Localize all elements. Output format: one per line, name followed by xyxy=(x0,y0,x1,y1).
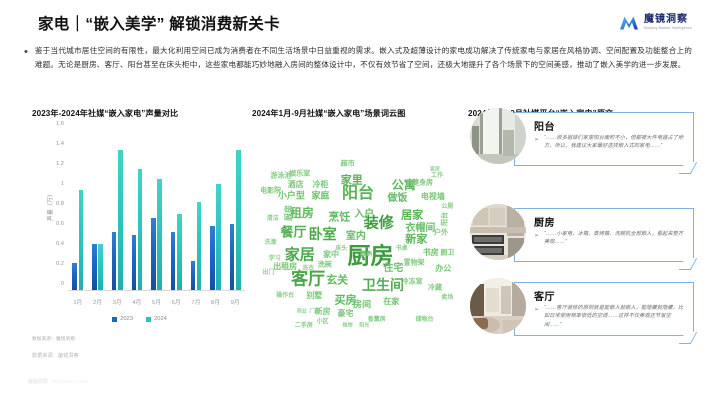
quote-card: 阳台 ➢ “……很多姐妹们家里阳台面积不小，但都被大件电器占了地方，所以，我建议… xyxy=(468,108,694,170)
wordcloud-word[interactable]: 玄关 xyxy=(326,275,348,286)
brand-text: 魔镜洞察 Moojing Market Intelligence xyxy=(644,15,692,30)
brand-name: 魔镜洞察 xyxy=(644,15,692,25)
chart-x-tick: 4月 xyxy=(127,293,147,311)
wordcloud-word[interactable]: 冷柜 xyxy=(313,181,329,189)
brand-logo: 魔镜洞察 Moojing Market Intelligence xyxy=(619,14,692,32)
wordcloud-word[interactable]: 别墅 xyxy=(306,292,322,300)
wordcloud-word[interactable]: 出租房 xyxy=(273,263,297,271)
chart-bar-group[interactable] xyxy=(166,130,186,290)
balcony-photo xyxy=(470,108,526,164)
wordcloud-word[interactable]: 二手房 xyxy=(295,323,313,328)
wordcloud-word[interactable]: 书桌 xyxy=(396,246,408,252)
wordcloud-word[interactable]: 收纳 xyxy=(360,252,372,258)
chart-bar-2024[interactable] xyxy=(216,184,221,290)
chart-bar-2024[interactable] xyxy=(79,190,84,290)
chart-x-tick: 9月 xyxy=(225,293,245,311)
wordcloud-canvas: 厨房客厅卫生间家居装修阳台餐厅卧室租房公寓家里烹饪居家新家衣帽间买房玄关入户做饭… xyxy=(254,130,462,328)
wordcloud-word[interactable]: 烹饪 xyxy=(328,212,350,223)
chart-bar-group[interactable] xyxy=(68,130,88,290)
chart-y-tick: 1.6 xyxy=(56,121,64,127)
chart-title: 2023年-2024年社媒“嵌入家电”声量对比 xyxy=(32,108,178,119)
page-title: 家电｜“嵌入美学” 解锁消费新关卡 xyxy=(38,12,280,34)
chart-x-tick: 1月 xyxy=(68,293,88,311)
intro-text: 鉴于当代城市居住空间的有限性，最大化利用空间已成为消费者在不同生活场景中日益重视… xyxy=(35,44,692,71)
wordcloud-word[interactable]: 户外 xyxy=(434,229,448,236)
wordcloud-word[interactable]: 做饭 xyxy=(388,194,408,204)
watermark-brand: 魔镜洞察 xyxy=(28,378,48,385)
quote-card: 厨房 ➢ “……小家电、冰箱、蒸烤箱、洗碗机全部嵌入，看起来整齐美观……” xyxy=(468,204,694,266)
chart-bar-2023[interactable] xyxy=(210,226,215,290)
wordcloud-word[interactable]: 植物 xyxy=(343,324,353,328)
wordcloud-title: 2024年1月-9月社媒“嵌入家电”场景词云图 xyxy=(252,108,405,119)
legend-label: 2024 xyxy=(154,316,167,322)
chart-bar-group[interactable] xyxy=(206,130,226,290)
chart-y-tick: 1.4 xyxy=(56,141,64,147)
chart-bar-2023[interactable] xyxy=(151,218,156,290)
chart-x-tick: 7月 xyxy=(186,293,206,311)
chart-legend-item[interactable]: 2024 xyxy=(146,316,167,322)
wordcloud-word[interactable]: 租房 xyxy=(290,207,314,219)
wordcloud-word[interactable]: 家中 xyxy=(323,251,339,259)
chart-bar-group[interactable] xyxy=(127,130,147,290)
wordcloud-word[interactable]: 冷冻室 xyxy=(402,279,423,286)
wordcloud-word[interactable]: 超市 xyxy=(341,160,355,167)
chart-source-note: 数据来源：魔镜洞察 xyxy=(32,336,75,342)
chart-bar-2024[interactable] xyxy=(157,179,162,290)
wordcloud-word[interactable]: 家里 xyxy=(341,174,363,185)
wordcloud-word[interactable]: 酒店 xyxy=(288,181,304,189)
chart-bars xyxy=(68,130,245,290)
chart-x-tick: 5月 xyxy=(147,293,167,311)
double-chevron-m-icon xyxy=(619,14,639,32)
quote-marker-icon: ➢ xyxy=(534,306,539,313)
wordcloud-word[interactable]: 卫生间 xyxy=(362,279,404,293)
wordcloud-word[interactable]: 商业 xyxy=(297,310,307,315)
wordcloud-word[interactable]: 书房 xyxy=(423,249,439,257)
wordcloud-word[interactable]: 豪宅 xyxy=(338,310,354,318)
quotes-panel: 2024年1月-9月社媒平台“嵌入家电”原文 厨房 ➢ “……小家电、冰箱、蒸烤… xyxy=(468,108,694,340)
wordcloud-word[interactable]: 住宅 xyxy=(383,264,403,274)
quote-scene-label: 厨房 xyxy=(534,214,555,229)
wordcloud-word[interactable]: 入户 xyxy=(354,210,374,220)
chart-legend: 20232024 xyxy=(32,316,247,322)
intro-paragraph: • 鉴于当代城市居住空间的有限性，最大化利用空间已成为消费者在不同生活场景中日益… xyxy=(24,44,692,71)
chart-x-ticks: 1月2月3月4月5月6月7月8月9月 xyxy=(68,293,245,311)
chart-y-tick: 0 xyxy=(61,281,64,287)
wordcloud-word[interactable]: 洗碗 xyxy=(318,261,332,268)
chart-x-tick: 6月 xyxy=(166,293,186,311)
wordcloud-word[interactable]: 家居 xyxy=(285,247,315,262)
chart-bar-2024[interactable] xyxy=(177,214,182,290)
wordcloud-word[interactable]: 香薰房 xyxy=(368,317,386,323)
wordcloud-word[interactable]: 出门 xyxy=(263,270,275,276)
chart-bar-group[interactable] xyxy=(186,130,206,290)
watermark: 魔镜洞察 mktindex.com xyxy=(28,378,88,385)
wordcloud-word[interactable]: 衣帽间 xyxy=(405,224,435,234)
chart-bar-group[interactable] xyxy=(107,130,127,290)
wordcloud-word[interactable]: 办公 xyxy=(435,265,451,273)
wordcloud-word[interactable]: 洗衣 xyxy=(302,266,314,272)
wordcloud-word[interactable]: 置物架 xyxy=(404,259,425,266)
chart-x-tick: 2月 xyxy=(88,293,108,311)
chart-y-tick: 0.8 xyxy=(56,201,64,207)
chart-bar-2023[interactable] xyxy=(132,235,137,290)
wordcloud-word[interactable]: 在家 xyxy=(383,298,399,306)
chart-bar-2024[interactable] xyxy=(236,150,241,290)
wordcloud-word[interactable]: 操作台 xyxy=(276,293,294,299)
wordcloud-panel: 2024年1月-9月社媒“嵌入家电”场景词云图 厨房客厅卫生间家居装修阳台餐厅卧… xyxy=(252,108,464,333)
wordcloud-word[interactable]: 餐厅 xyxy=(281,226,307,239)
chart-bar-2024[interactable] xyxy=(118,150,123,290)
chart-bar-2023[interactable] xyxy=(171,232,176,290)
wordcloud-word[interactable]: 小户型 xyxy=(278,193,305,202)
wordcloud-word[interactable]: 居家 xyxy=(401,210,423,221)
wordcloud-word[interactable]: 厂房 xyxy=(309,310,319,315)
quote-text: “……很多姐妹们家里阳台面积不小，但都被大件电器占了地方，所以，我建议大家最好选… xyxy=(544,134,684,151)
chart-bar-group[interactable] xyxy=(147,130,167,290)
wordcloud-word[interactable]: 卧室 xyxy=(309,228,337,242)
chart-bar-2023[interactable] xyxy=(230,224,235,290)
quote-marker-icon: ➢ xyxy=(534,232,539,239)
quote-marker-icon: ➢ xyxy=(534,136,539,143)
chart-bar-2024[interactable] xyxy=(197,202,202,290)
chart-bar-2024[interactable] xyxy=(98,244,103,290)
wordcloud-word[interactable]: 客厅 xyxy=(291,272,325,289)
livingroom-photo xyxy=(470,278,526,334)
chart-y-tick: 1.2 xyxy=(56,161,64,167)
wordcloud-word[interactable]: 工作 xyxy=(431,173,443,179)
legend-swatch-icon xyxy=(146,317,151,322)
page-header: 家电｜“嵌入美学” 解锁消费新关卡 魔镜洞察 Moojing Market In… xyxy=(0,0,710,38)
wordcloud-word[interactable]: 健身房 xyxy=(412,180,433,187)
watermark-url: mktindex.com xyxy=(52,379,88,385)
legend-swatch-icon xyxy=(112,317,117,322)
chart-panel: 2023年-2024年社媒“嵌入家电”声量对比 声量（万） 00.20.40.6… xyxy=(32,108,247,340)
chart-x-tick: 3月 xyxy=(107,293,127,311)
chart-y-tick: 0.2 xyxy=(56,261,64,267)
wordcloud-word[interactable]: 阳台 xyxy=(442,212,449,226)
chart-bar-2023[interactable] xyxy=(191,261,196,290)
wordcloud-word[interactable]: 卖场 xyxy=(441,295,453,301)
chart-legend-item[interactable]: 2023 xyxy=(112,316,133,322)
wordcloud-word[interactable]: 家庭 xyxy=(312,193,330,202)
chart-bar-2023[interactable] xyxy=(112,232,117,290)
wordcloud-word[interactable]: 厨卫 xyxy=(440,249,454,256)
chart-y-tick: 1 xyxy=(61,181,64,187)
wordcloud-word[interactable]: 冷藏 xyxy=(428,285,442,292)
wordcloud-word[interactable]: 娱乐室 xyxy=(289,170,310,177)
footer-source-note: 数据来源：魔镜洞察 xyxy=(32,352,79,359)
quote-scene-label: 客厅 xyxy=(534,288,555,303)
wordcloud-word[interactable]: 电影院 xyxy=(260,188,281,195)
chart-x-tick: 8月 xyxy=(206,293,226,311)
wordcloud-word[interactable]: 新家 xyxy=(405,233,427,244)
bullet-marker: • xyxy=(24,44,28,71)
chart-bar-group[interactable] xyxy=(225,130,245,290)
chart-y-axis-label: 声量（万） xyxy=(46,186,54,226)
chart-y-tick: 0.4 xyxy=(56,241,64,247)
chart-body: 声量（万） 00.20.40.60.811.21.41.6 1月2月3月4月5月… xyxy=(32,128,247,313)
chart-bar-2023[interactable] xyxy=(92,244,97,290)
wordcloud-word[interactable]: 电视墙 xyxy=(421,193,445,201)
chart-plot-area: 00.20.40.60.811.21.41.6 xyxy=(68,130,245,291)
quote-card: 客厅 ➢ “……客厅装修的原则就是能嵌入就嵌入，能隐藏就隐藏，比如日常使用频率很… xyxy=(468,278,694,340)
quote-text: “……客厅装修的原则就是能嵌入就嵌入，能隐藏就隐藏，比如日常使用频率很低的空调…… xyxy=(544,304,684,329)
wordcloud-word[interactable]: 公厕 xyxy=(441,204,453,210)
wordcloud-word[interactable]: 房间 xyxy=(353,302,371,311)
brand-subtitle: Moojing Market Intelligence xyxy=(644,27,692,30)
wordcloud-word[interactable]: 学习 xyxy=(269,256,281,262)
wordcloud-word[interactable]: 室内 xyxy=(346,232,366,242)
chart-y-tick: 0.6 xyxy=(56,221,64,227)
wordcloud-word[interactable]: 阳光 xyxy=(359,324,369,328)
wordcloud-word[interactable]: 厨房 xyxy=(285,205,293,221)
chart-bar-group[interactable] xyxy=(88,130,108,290)
wordcloud-word[interactable]: 客房 xyxy=(430,167,440,172)
chart-bar-2023[interactable] xyxy=(72,263,77,290)
wordcloud-word[interactable]: 洗漱 xyxy=(265,240,277,246)
chart-bar-2024[interactable] xyxy=(138,169,143,290)
quote-scene-label: 阳台 xyxy=(534,118,555,133)
quote-text: “……小家电、冰箱、蒸烤箱、洗碗机全部嵌入，看起来整齐美观……” xyxy=(544,230,684,247)
legend-label: 2023 xyxy=(120,316,133,322)
kitchen-photo xyxy=(470,204,526,260)
wordcloud-word[interactable]: 小区 xyxy=(317,319,329,325)
wordcloud-word[interactable]: 储物台 xyxy=(416,317,434,323)
wordcloud-word[interactable]: 清洁 xyxy=(267,216,279,222)
wordcloud-word[interactable]: 阳台 xyxy=(342,185,374,201)
